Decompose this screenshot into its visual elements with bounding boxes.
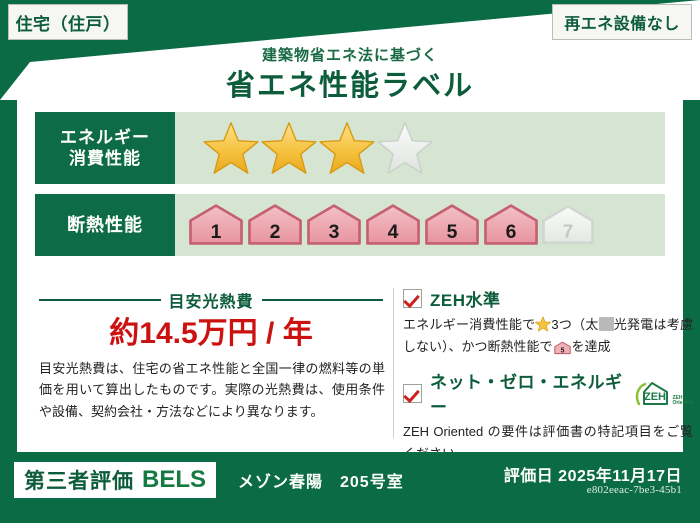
- bels-badge: 第三者評価 BELS: [14, 462, 216, 498]
- checkbox-zeh-suijun[interactable]: [403, 289, 422, 308]
- inline-house-badge-number: 5: [560, 347, 564, 354]
- label-title: 省エネ性能ラベル: [0, 62, 700, 104]
- house-level-4-number: 4: [388, 221, 399, 243]
- redacted-character-block: [599, 317, 614, 331]
- house-level-7-number: 7: [563, 221, 573, 242]
- bels-en-text: BELS: [142, 466, 206, 494]
- house-level-1-number: 1: [211, 221, 222, 243]
- evaluation-id: e802eeac-7be3-45b1: [587, 484, 682, 496]
- zeh-logo-text: ZEH: [644, 391, 666, 403]
- inline-star-icon: [535, 316, 551, 332]
- house-level-4: 4: [364, 203, 422, 247]
- vertical-divider: [393, 288, 394, 438]
- energy-performance-row: エネルギー 消費性能: [35, 112, 665, 184]
- star-filled-1: [203, 121, 259, 175]
- check-body-zeh-suijun: エネルギー消費性能で3つ（太光発電は考慮しない）、かつ断熱性能で5を達成: [403, 314, 693, 358]
- check-row-net-zero-energy[interactable]: ネット・ゼロ・エネルギー ZEH ZEH Oriented: [403, 368, 693, 418]
- star-empty-4: [377, 121, 433, 175]
- energy-label-line2: 消費性能: [69, 148, 141, 169]
- energy-label-root: 住宅（住戸） 再エネ設備なし 建築物省エネ法に基づく 省エネ性能ラベル エネルギ…: [0, 0, 700, 523]
- renewable-equipment-tag: 再エネ設備なし: [552, 4, 692, 40]
- cost-heading-rule-right: [262, 299, 384, 301]
- house-level-7: 7: [541, 203, 595, 247]
- insulation-performance-label: 断熱性能: [35, 194, 175, 256]
- check-title-zeh-suijun: ZEH水準: [430, 286, 501, 311]
- energy-stars-container: [175, 112, 665, 184]
- evaluation-date: 評価日 2025年11月17日: [504, 462, 682, 486]
- energy-label-line1: エネルギー: [60, 127, 150, 148]
- cost-heading-rule-left: [39, 299, 161, 301]
- house-level-6: 6: [482, 203, 540, 247]
- zeh-logo: ZEH ZEH Oriented: [634, 380, 693, 406]
- insulation-performance-row: 断熱性能 1 2 3: [35, 194, 665, 256]
- inline-house-badge-icon: 5: [554, 341, 571, 355]
- cost-value: 約14.5万円 / 年: [39, 308, 383, 352]
- checks-panel: ZEH水準 エネルギー消費性能で3つ（太光発電は考慮しない）、かつ断熱性能で5を…: [403, 286, 693, 465]
- building-name: メゾン春陽 205号室: [238, 468, 404, 492]
- house-level-3: 3: [305, 203, 363, 247]
- energy-performance-label: エネルギー 消費性能: [35, 112, 175, 184]
- check-title-net-zero-energy: ネット・ゼロ・エネルギー: [430, 368, 624, 418]
- house-level-2: 2: [246, 203, 304, 247]
- zeh-house-icon: ZEH: [634, 380, 670, 406]
- insulation-levels-container: 1 2 3 4 5: [175, 194, 665, 256]
- house-level-5: 5: [423, 203, 481, 247]
- star-filled-2: [261, 121, 317, 175]
- label-card: エネルギー 消費性能: [17, 100, 683, 452]
- house-level-2-number: 2: [270, 221, 281, 243]
- house-level-6-number: 6: [506, 221, 517, 243]
- check-body-part4: を達成: [572, 339, 611, 354]
- house-level-5-number: 5: [447, 221, 458, 243]
- housing-type-tag: 住宅（住戸）: [8, 4, 128, 40]
- bels-jp-text: 第三者評価: [24, 465, 134, 495]
- zeh-logo-sub-line2: Oriented: [672, 401, 693, 406]
- footer-bar: 第三者評価 BELS メゾン春陽 205号室 評価日 2025年11月17日 e…: [0, 452, 700, 523]
- checkbox-net-zero-energy[interactable]: [403, 384, 422, 403]
- check-body-part1: エネルギー消費性能で: [403, 317, 535, 332]
- cost-note: 目安光熱費は、住宅の省エネ性能と全国一律の燃料等の単価を用いて算出したものです。…: [39, 358, 385, 422]
- house-level-3-number: 3: [329, 221, 340, 243]
- star-filled-3: [319, 121, 375, 175]
- check-row-zeh-suijun[interactable]: ZEH水準: [403, 286, 693, 311]
- check-body-part2: 3つ（太: [551, 317, 598, 332]
- house-level-1: 1: [187, 203, 245, 247]
